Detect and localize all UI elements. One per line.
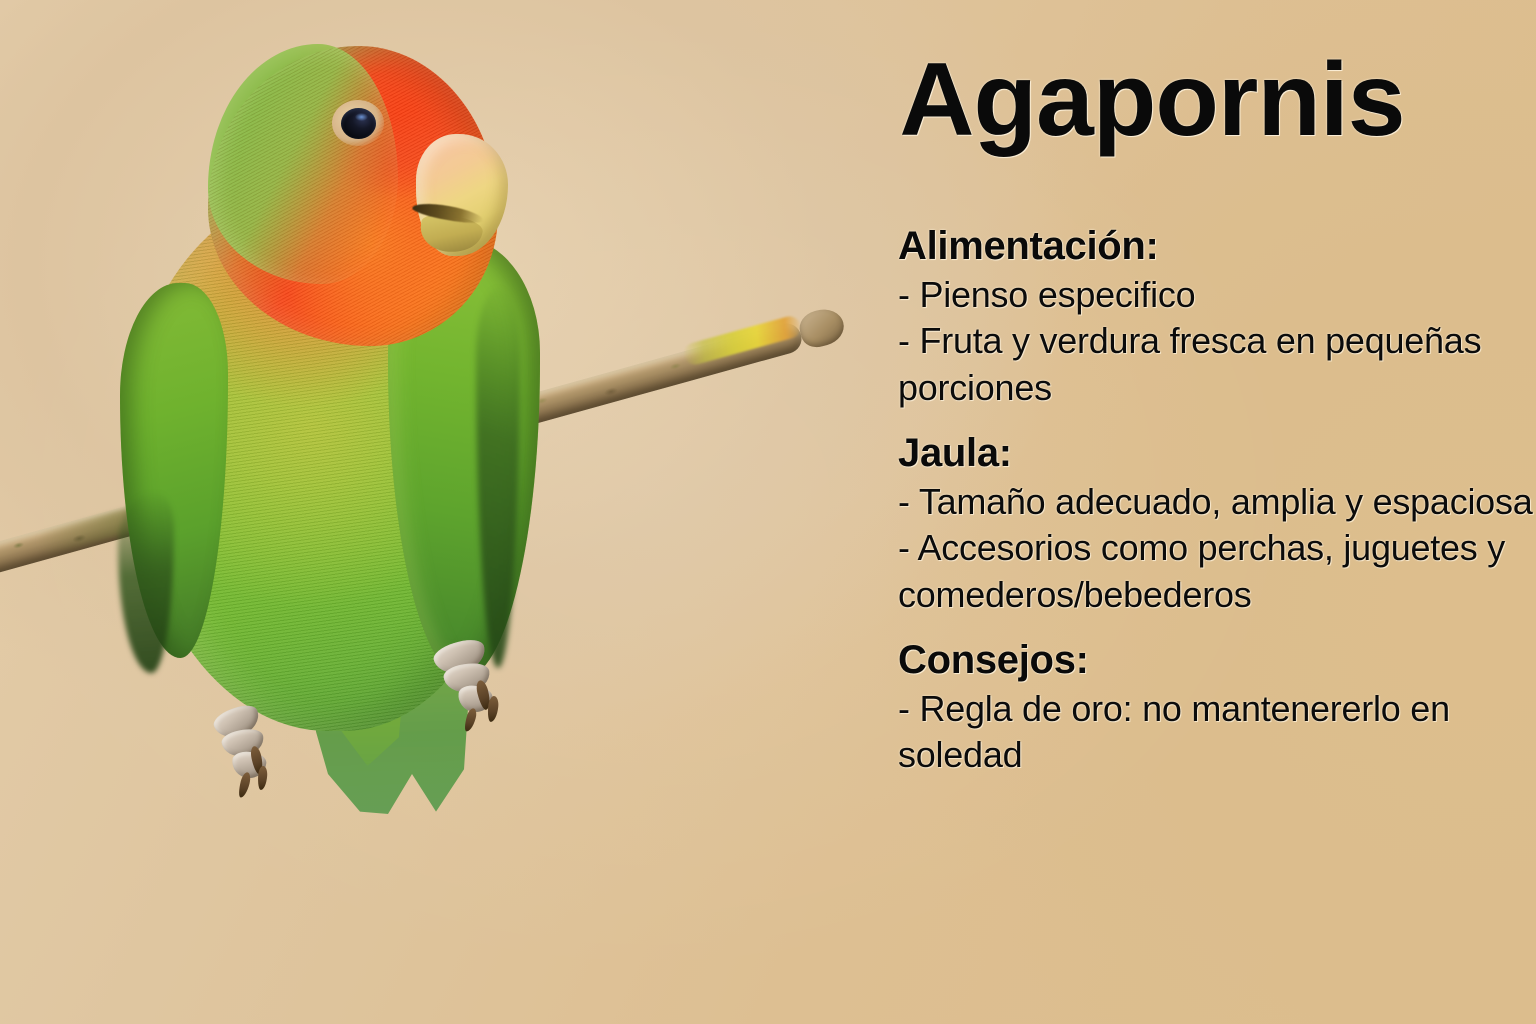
- claw: [463, 707, 478, 733]
- page-title: Agapornis: [852, 48, 1452, 152]
- section-consejos: Consejos: - Regla de oro: no mantenererl…: [898, 638, 1536, 779]
- section-heading: Jaula:: [898, 431, 1536, 477]
- lovebird-photo: [0, 0, 880, 1024]
- section-heading: Consejos:: [898, 638, 1536, 684]
- claw: [487, 696, 500, 723]
- section-jaula: Jaula: - Tamaño adecuado, amplia y espac…: [898, 431, 1536, 619]
- section-heading: Alimentación:: [898, 224, 1536, 270]
- section-item: - Tamaño adecuado, amplia y espaciosa: [898, 479, 1536, 526]
- infographic-poster: Agapornis Alimentación: - Pienso especif…: [0, 0, 1536, 1024]
- eye-highlight: [355, 113, 368, 121]
- right-foot: [430, 638, 508, 746]
- text-panel: Agapornis Alimentación: - Pienso especif…: [852, 0, 1536, 1024]
- branch-tip: [796, 305, 848, 351]
- section-item: - Fruta y verdura fresca en pequeñas por…: [898, 318, 1536, 412]
- care-sections: Alimentación: - Pienso especifico - Frut…: [898, 224, 1536, 779]
- left-foot: [212, 706, 284, 816]
- section-item: - Regla de oro: no mantenererlo en soled…: [898, 686, 1536, 780]
- section-alimentacion: Alimentación: - Pienso especifico - Frut…: [898, 224, 1536, 412]
- section-item: - Pienso especifico: [898, 272, 1536, 319]
- claw: [257, 766, 268, 791]
- section-item: - Accesorios como perchas, juguetes y co…: [898, 525, 1536, 619]
- lovebird: [120, 38, 590, 798]
